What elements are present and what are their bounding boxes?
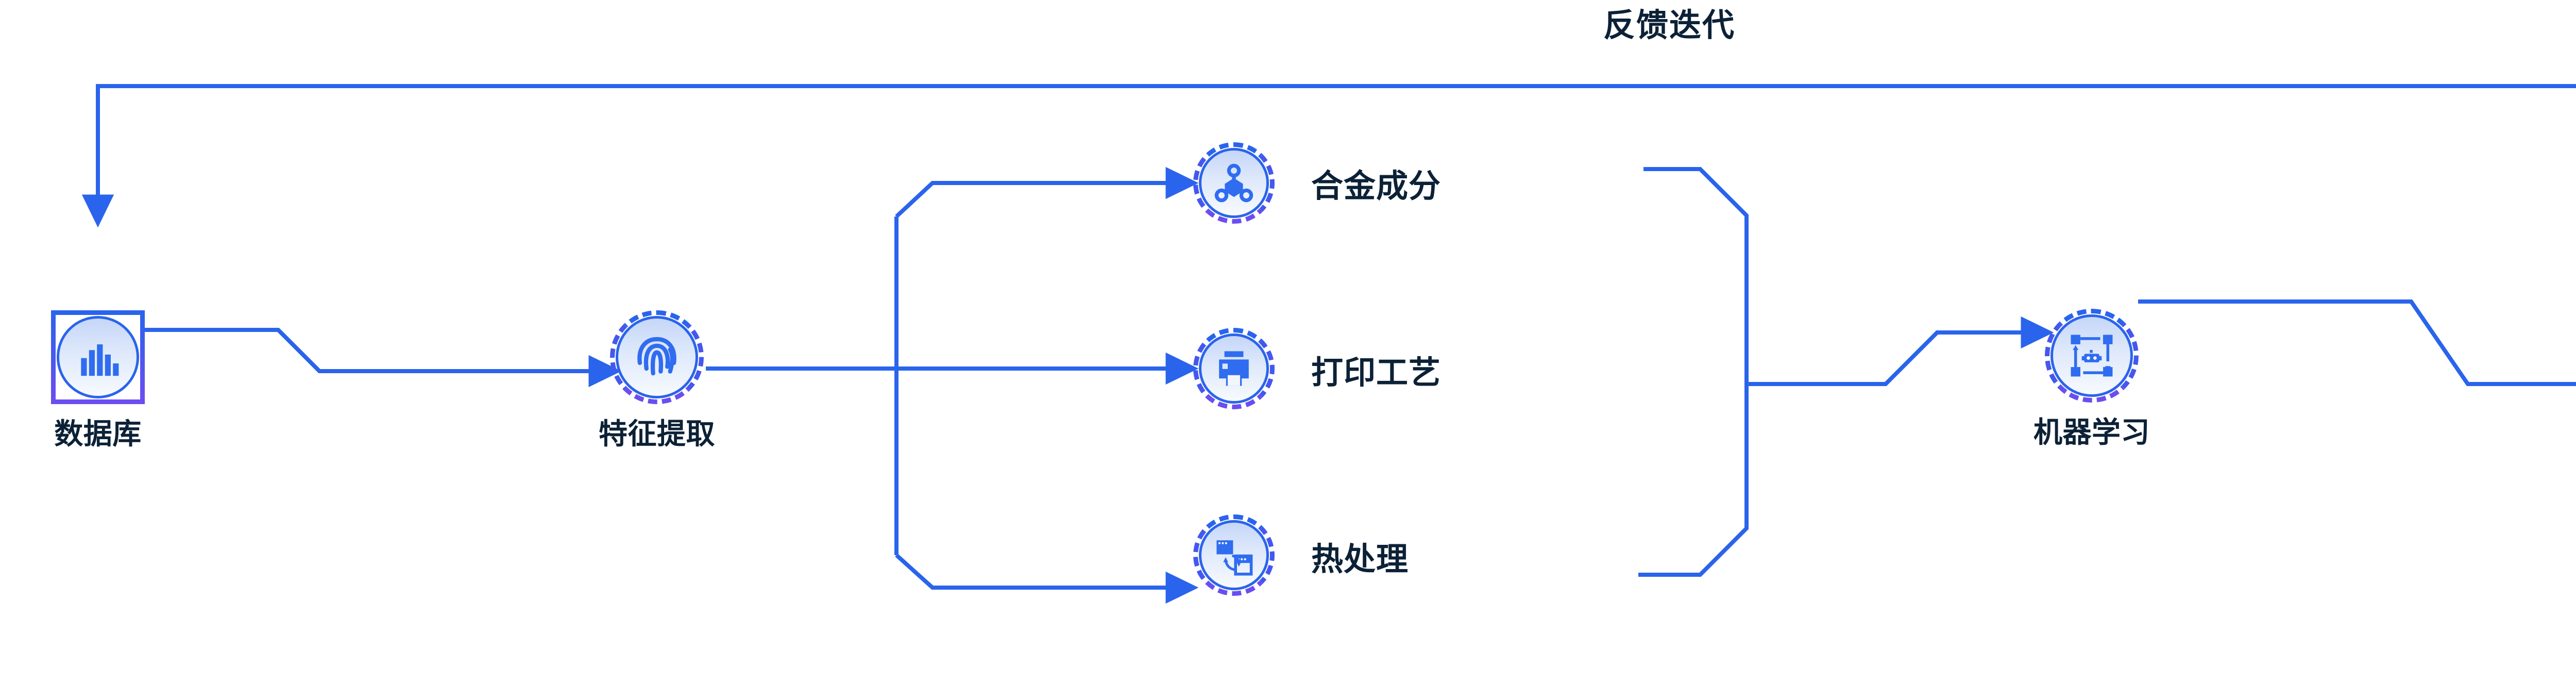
- feedback-loop-title: 反馈迭代: [1603, 0, 1735, 45]
- connector-database-to-feature: [143, 330, 598, 371]
- window-swap-icon: [1210, 531, 1258, 579]
- robot-automation-icon: [2064, 328, 2120, 383]
- node-label-adaptive-design: 自适应设计: [2555, 415, 2576, 449]
- connector-trunk-to-heat: [896, 555, 1175, 588]
- branch-label-heat-treatment: 热处理: [1311, 533, 1409, 579]
- node-feature-extraction[interactable]: 特征提取: [616, 316, 698, 398]
- node-alloy-composition[interactable]: [1199, 148, 1269, 218]
- connector-merge-to-ml: [1747, 332, 2030, 384]
- connector-layer: [0, 0, 2576, 684]
- flowchart-canvas: 反馈迭代 数据库: [0, 0, 2576, 684]
- node-label-feature-extraction: 特征提取: [559, 417, 755, 451]
- connector-ml-to-adaptive: [2138, 302, 2576, 384]
- connector-alloy-to-merge: [1643, 169, 1747, 369]
- fingerprint-icon: [629, 329, 685, 385]
- molecule-network-icon: [1210, 159, 1258, 207]
- node-printing-process[interactable]: [1199, 333, 1269, 404]
- branch-label-alloy-composition: 合金成分: [1311, 160, 1441, 206]
- branch-label-printing-process: 打印工艺: [1311, 346, 1441, 393]
- node-database[interactable]: 数据库: [57, 316, 139, 398]
- printer-icon: [1210, 345, 1258, 392]
- node-label-machine-learning: 机器学习: [1994, 415, 2190, 449]
- bar-chart-icon: [72, 331, 124, 383]
- node-machine-learning[interactable]: 机器学习: [2050, 314, 2133, 397]
- node-label-database: 数据库: [0, 417, 196, 451]
- node-heat-treatment[interactable]: [1199, 520, 1269, 590]
- connector-trunk-to-alloy: [896, 183, 1175, 216]
- connector-heat-to-merge: [1638, 369, 1747, 575]
